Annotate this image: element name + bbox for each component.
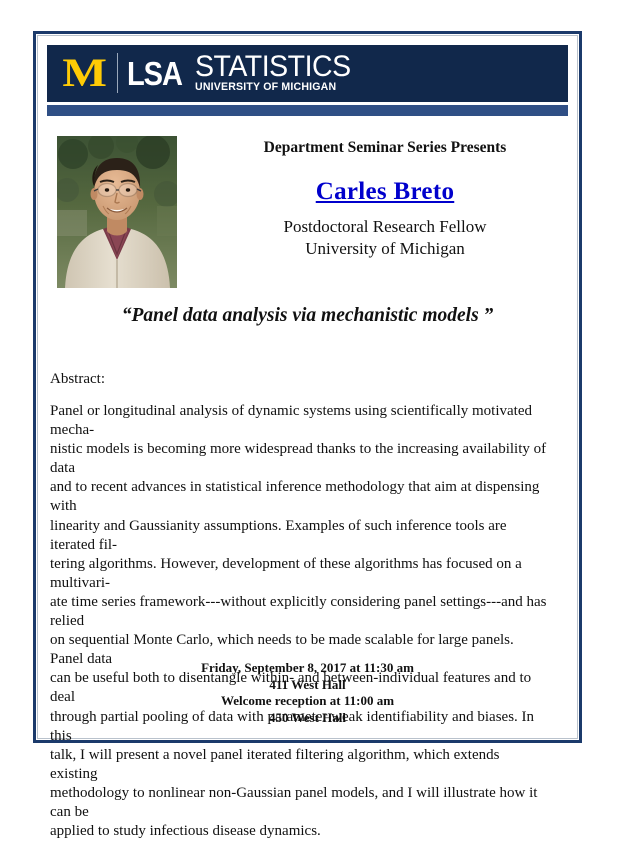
- speaker-name[interactable]: Carles Breto: [316, 178, 455, 205]
- lsa-wordmark: LSA: [127, 57, 182, 90]
- speaker-affiliation: Postdoctoral Research Fellow University …: [195, 216, 575, 260]
- header-accent-bar: [47, 105, 568, 116]
- event-details: Friday, September 8, 2017 at 11:30 am 41…: [47, 660, 568, 726]
- university-subtitle: UNIVERSITY OF MICHIGAN: [195, 81, 352, 94]
- statistics-wordmark: STATISTICS: [195, 52, 351, 81]
- affiliation-line-2: University of Michigan: [195, 238, 575, 260]
- abstract-label: Abstract:: [50, 371, 105, 388]
- logo-row: M LSA STATISTICS UNIVERSITY OF MICHIGAN: [60, 52, 359, 94]
- abstract-body: Panel or longitudinal analysis of dynami…: [50, 402, 550, 841]
- seminar-series-label: Department Seminar Series Presents: [195, 139, 575, 157]
- talk-title: “Panel data analysis via mechanistic mod…: [47, 305, 568, 327]
- affiliation-line-1: Postdoctoral Research Fellow: [195, 216, 575, 238]
- statistics-block: STATISTICS UNIVERSITY OF MICHIGAN: [195, 52, 359, 94]
- speaker-name-wrap: Carles Breto: [195, 178, 575, 206]
- logo-divider: [117, 53, 118, 93]
- speaker-photo-image: [57, 136, 177, 288]
- michigan-m-logo-icon: M: [60, 53, 108, 93]
- poster-page: M LSA STATISTICS UNIVERSITY OF MICHIGAN: [0, 0, 618, 800]
- lsa-statistics-header: M LSA STATISTICS UNIVERSITY OF MICHIGAN: [47, 45, 568, 102]
- speaker-photo: [57, 136, 177, 288]
